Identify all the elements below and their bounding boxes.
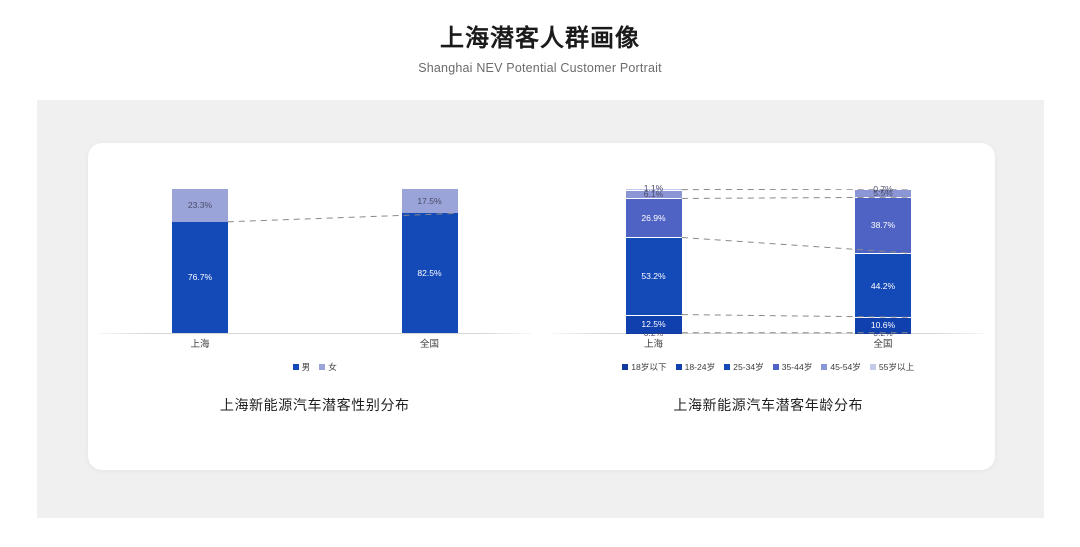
legend-swatch-icon — [676, 364, 682, 370]
segment-value-label: 38.7% — [871, 221, 895, 230]
legend-swatch-icon — [724, 364, 730, 370]
legend-swatch-icon — [319, 364, 325, 370]
bar-segment[interactable]: 53.2% — [626, 237, 682, 314]
segment-value-label: 17.5% — [417, 197, 441, 206]
legend-item[interactable]: 18岁以下 — [622, 361, 666, 373]
bar-column-age-national[interactable]: 0.2%10.6%44.2%38.7%5.5%0.7% — [855, 188, 911, 333]
legend-label: 男 — [302, 361, 311, 373]
legend-swatch-icon — [870, 364, 876, 370]
chart-caption: 上海新能源汽车潜客年龄分布 — [542, 395, 996, 415]
connector-lines — [88, 189, 542, 334]
segment-value-label: 44.2% — [871, 282, 895, 291]
bar-segment[interactable]: 1.1% — [626, 188, 682, 190]
legend-label: 55岁以上 — [879, 361, 914, 373]
bar-segment[interactable]: 0.7% — [855, 188, 911, 189]
legend-swatch-icon — [622, 364, 628, 370]
legend-age: 18岁以下18-24岁25-34岁35-44岁45-54岁55岁以上 — [542, 361, 996, 373]
legend-label: 35-44岁 — [782, 361, 813, 373]
bar-segment[interactable]: 17.5% — [402, 188, 458, 213]
segment-value-label: 26.9% — [641, 214, 665, 223]
legend-item[interactable]: 女 — [319, 361, 337, 373]
bar-segment[interactable]: 82.5% — [402, 213, 458, 333]
legend-swatch-icon — [821, 364, 827, 370]
legend-gender: 男女 — [88, 361, 542, 373]
legend-item[interactable]: 45-54岁 — [821, 361, 861, 373]
legend-swatch-icon — [773, 364, 779, 370]
segment-value-label: 10.6% — [871, 321, 895, 330]
x-axis-line — [552, 333, 986, 334]
segment-value-label: 12.5% — [641, 320, 665, 329]
page-subtitle: Shanghai NEV Potential Customer Portrait — [0, 61, 1080, 75]
chart-age: 0.2%12.5%53.2%26.9%6.1%1.1%0.2%10.6%44.2… — [542, 143, 996, 470]
bar-segment[interactable]: 23.3% — [172, 188, 228, 222]
legend-item[interactable]: 55岁以上 — [870, 361, 914, 373]
bar-segment[interactable]: 10.6% — [855, 317, 911, 332]
charts-row: 76.7%23.3%82.5%17.5%上海全国男女上海新能源汽车潜客性别分布0… — [88, 143, 995, 470]
segment-value-label: 5.5% — [873, 189, 893, 198]
segment-value-label: 76.7% — [188, 273, 212, 282]
legend-label: 45-54岁 — [830, 361, 861, 373]
bar-column-gender-shanghai[interactable]: 76.7%23.3% — [172, 188, 228, 333]
bar-column-gender-national[interactable]: 82.5%17.5% — [402, 188, 458, 333]
plot-area-age: 0.2%12.5%53.2%26.9%6.1%1.1%0.2%10.6%44.2… — [542, 189, 996, 334]
legend-item[interactable]: 男 — [293, 361, 311, 373]
bar-segment[interactable]: 76.7% — [172, 222, 228, 333]
charts-card: 76.7%23.3%82.5%17.5%上海全国男女上海新能源汽车潜客性别分布0… — [88, 143, 995, 470]
legend-item[interactable]: 25-34岁 — [724, 361, 764, 373]
category-labels: 上海全国 — [542, 336, 996, 352]
bar-segment[interactable]: 6.1% — [626, 190, 682, 199]
bar-segment[interactable]: 12.5% — [626, 315, 682, 333]
chart-caption: 上海新能源汽车潜客性别分布 — [88, 395, 542, 415]
category-label: 上海 — [609, 336, 699, 350]
connector-lines — [542, 189, 996, 334]
legend-label: 25-34岁 — [733, 361, 764, 373]
x-axis-line — [98, 333, 532, 334]
plot-area-gender: 76.7%23.3%82.5%17.5% — [88, 189, 542, 334]
bar-column-age-shanghai[interactable]: 0.2%12.5%53.2%26.9%6.1%1.1% — [626, 188, 682, 333]
legend-label: 18岁以下 — [631, 361, 666, 373]
legend-item[interactable]: 35-44岁 — [773, 361, 813, 373]
page-title: 上海潜客人群画像 — [0, 24, 1080, 54]
page-header: 上海潜客人群画像 Shanghai NEV Potential Customer… — [0, 24, 1080, 75]
segment-value-label: 82.5% — [417, 269, 441, 278]
category-label: 全国 — [385, 336, 475, 350]
category-labels: 上海全国 — [88, 336, 542, 352]
category-label: 全国 — [838, 336, 928, 350]
bar-segment[interactable]: 5.5% — [855, 189, 911, 197]
legend-label: 女 — [328, 361, 337, 373]
category-label: 上海 — [155, 336, 245, 350]
segment-value-label: 53.2% — [641, 272, 665, 281]
bar-segment[interactable]: 44.2% — [855, 253, 911, 317]
segment-value-label: 6.1% — [644, 190, 664, 199]
legend-label: 18-24岁 — [685, 361, 716, 373]
segment-value-label: 23.3% — [188, 201, 212, 210]
legend-swatch-icon — [293, 364, 299, 370]
bar-segment[interactable]: 26.9% — [626, 198, 682, 237]
bar-segment[interactable]: 38.7% — [855, 197, 911, 253]
legend-item[interactable]: 18-24岁 — [676, 361, 716, 373]
chart-gender: 76.7%23.3%82.5%17.5%上海全国男女上海新能源汽车潜客性别分布 — [88, 143, 542, 470]
content-panel: 76.7%23.3%82.5%17.5%上海全国男女上海新能源汽车潜客性别分布0… — [37, 100, 1044, 518]
